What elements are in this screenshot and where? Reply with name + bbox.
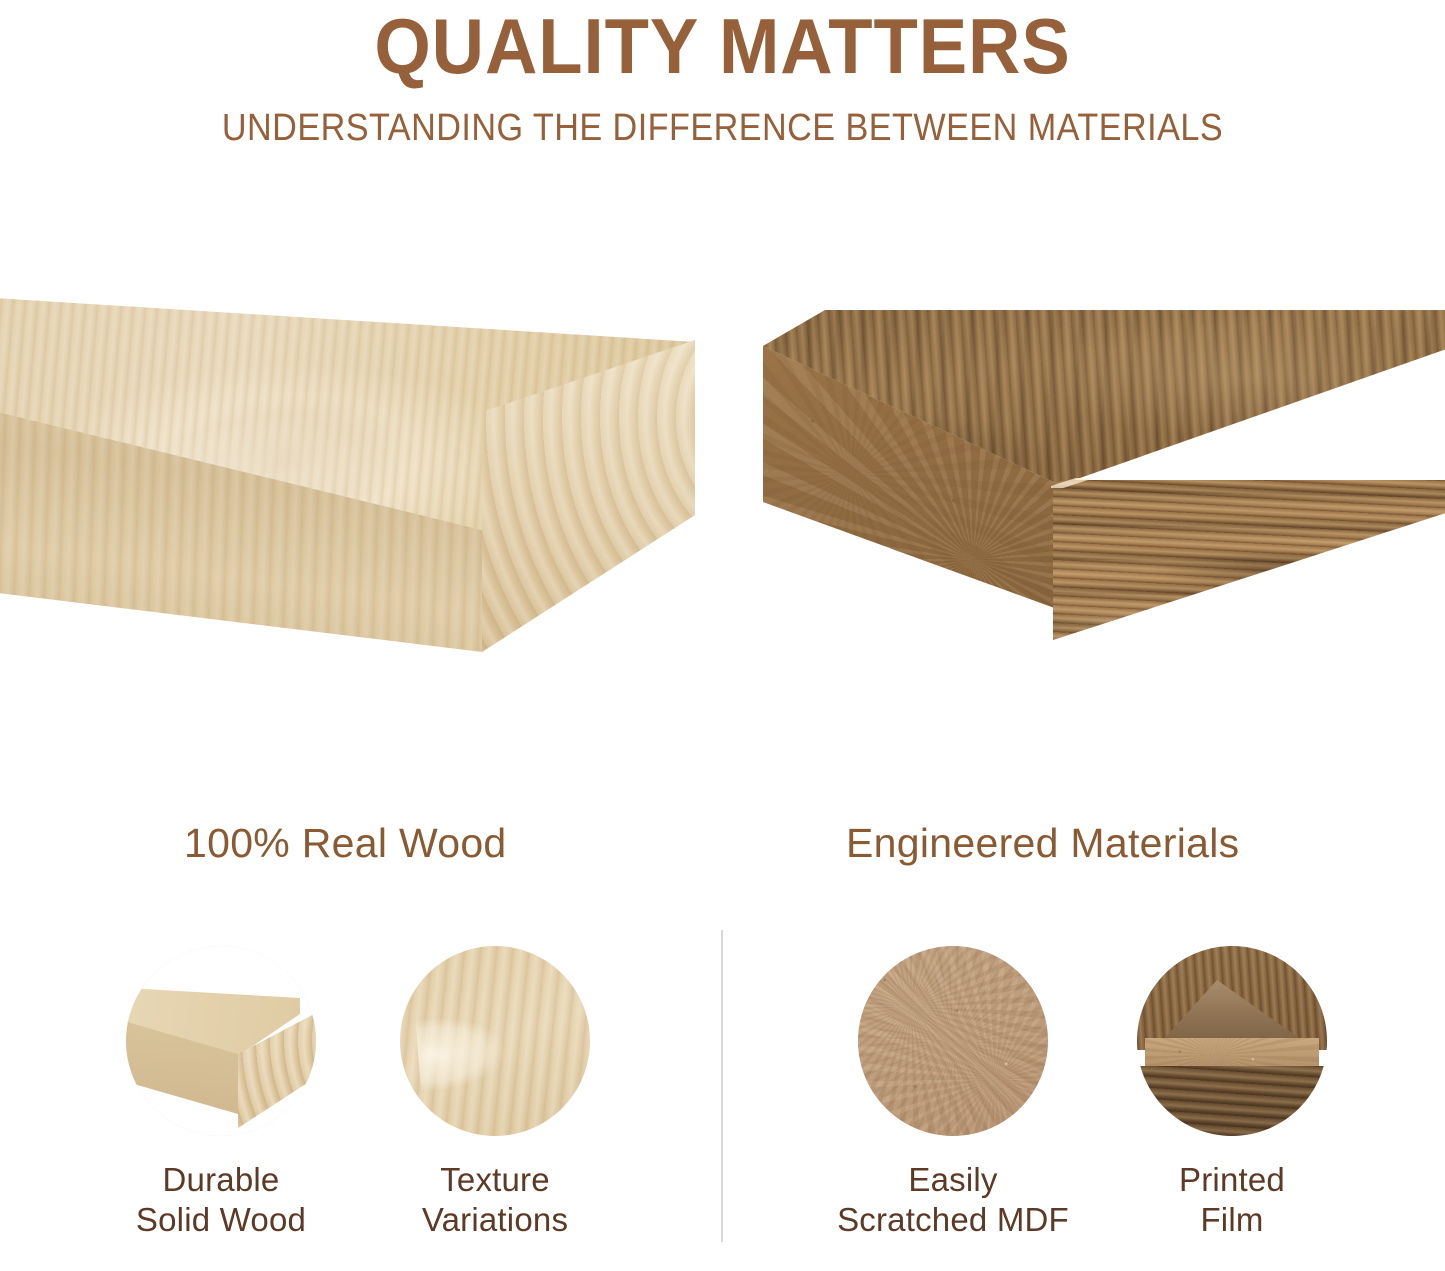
header: QUALITY MATTERS UNDERSTANDING THE DIFFER… xyxy=(0,0,1445,150)
section-heading-engineered-materials: Engineered Materials xyxy=(846,818,1239,868)
page-subtitle: UNDERSTANDING THE DIFFERENCE BETWEEN MAT… xyxy=(72,90,1373,150)
caption-line-2: Solid Wood xyxy=(82,1200,360,1240)
mdf-board-image xyxy=(755,310,1445,690)
caption-line-2: Variations xyxy=(356,1200,634,1240)
feature-item-easily-scratched-mdf: Easily Scratched MDF xyxy=(814,930,1092,1240)
hero-comparison-images xyxy=(0,290,1445,690)
mdf-printed-edge-face xyxy=(1053,480,1445,695)
feature-columns: Durable Solid Wood Texture Variations Ea… xyxy=(0,930,1445,1271)
wood-grain-swatch xyxy=(400,946,590,1136)
feature-caption: Durable Solid Wood xyxy=(82,1160,360,1240)
raw-mdf-surface-thumbnail xyxy=(858,946,1048,1136)
feature-caption: Printed Film xyxy=(1093,1160,1371,1240)
caption-line-1: Durable xyxy=(82,1160,360,1200)
caption-line-2: Scratched MDF xyxy=(814,1200,1092,1240)
feature-item-texture-variations: Texture Variations xyxy=(356,930,634,1240)
caption-line-2: Film xyxy=(1093,1200,1371,1240)
solid-wood-board-thumbnail xyxy=(126,946,316,1136)
caption-line-1: Printed xyxy=(1093,1160,1371,1200)
mdf-particle-swatch xyxy=(858,946,1048,1136)
feature-item-durable-solid-wood: Durable Solid Wood xyxy=(82,930,360,1240)
feature-caption: Texture Variations xyxy=(356,1160,634,1240)
caption-line-1: Texture xyxy=(356,1160,634,1200)
feature-caption: Easily Scratched MDF xyxy=(814,1160,1092,1240)
solid-wood-board-image xyxy=(0,290,702,690)
wood-grain-texture-thumbnail xyxy=(400,946,590,1136)
peeling-printed-film-thumbnail xyxy=(1137,946,1327,1136)
printed-film-edge-layer xyxy=(1137,1066,1327,1136)
page-title: QUALITY MATTERS xyxy=(51,0,1395,90)
caption-line-1: Easily xyxy=(814,1160,1092,1200)
section-heading-real-wood: 100% Real Wood xyxy=(184,818,507,868)
feature-item-printed-film: Printed Film xyxy=(1093,930,1371,1240)
